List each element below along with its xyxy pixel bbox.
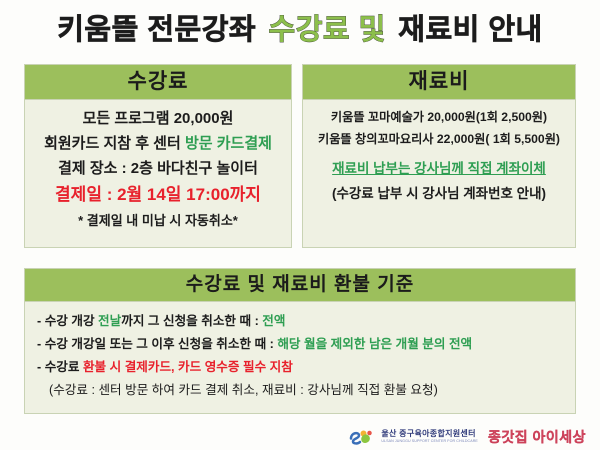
tuition-fee-box: 수강료 모든 프로그램 20,000원 회원카드 지참 후 센터 방문 카드결제… <box>24 64 292 248</box>
footer-logos: 울산 중구육아종합지원센터 ULSAN JUNGGU SUPPORT CENTE… <box>0 424 600 450</box>
center-logo-name: 울산 중구육아종합지원센터 <box>381 430 478 438</box>
refund-rule-1: - 수강 개강 전날까지 그 신청을 취소한 때 : 전액 <box>37 310 565 333</box>
refund-policy-box: 수강료 및 재료비 환불 기준 - 수강 개강 전날까지 그 신청을 취소한 때… <box>24 268 576 414</box>
material-account-note: (수강료 납부 시 강사님 계좌번호 안내) <box>307 182 571 206</box>
title-segment-2: 수강료 및 <box>269 6 386 48</box>
childcare-center-logo-icon <box>349 428 375 446</box>
tuition-line-program-price: 모든 프로그램 20,000원 <box>29 106 287 131</box>
refund-rule-1-green-2: 전액 <box>262 314 285 328</box>
jonggatjip-logo-text: 종갓집 아이세상 <box>488 427 586 447</box>
tuition-line-deadline: 결제일 : 2월 14일 17:00까지 <box>29 181 287 209</box>
tuition-line-location: 결제 장소 : 2층 바다친구 놀이터 <box>29 156 287 181</box>
refund-policy-body: - 수강 개강 전날까지 그 신청을 취소한 때 : 전액 - 수강 개강일 또… <box>25 302 575 402</box>
refund-rule-1-green-1: 전날 <box>98 314 121 328</box>
title-segment-3: 재료비 안내 <box>398 6 542 48</box>
tuition-fee-body: 모든 프로그램 20,000원 회원카드 지참 후 센터 방문 카드결제 결제 … <box>25 100 291 237</box>
material-fee-header: 재료비 <box>303 65 575 100</box>
center-logo-group: 울산 중구육아종합지원센터 ULSAN JUNGGU SUPPORT CENTE… <box>349 428 478 446</box>
material-item-art: 키움뜰 꼬마예술가 20,000원(1회 2,500원) <box>307 106 571 128</box>
refund-rule-3-prefix: - 수강료 <box>37 360 83 374</box>
refund-rule-3: - 수강료 환불 시 결제카드, 카드 영수증 필수 지참 <box>37 356 565 379</box>
refund-rule-2-green-1: 해당 월을 제외한 남은 개월 분의 전액 <box>277 337 472 351</box>
tuition-fee-header: 수강료 <box>25 65 291 100</box>
refund-rule-1-prefix: - 수강 개강 <box>37 314 98 328</box>
refund-rule-3-red-1: 환불 시 결제카드, 카드 영수증 필수 지참 <box>83 360 293 374</box>
material-transfer-note: 재료비 납부는 강사님께 직접 계좌이체 <box>307 156 571 182</box>
center-logo-subtitle: ULSAN JUNGGU SUPPORT CENTER FOR CHILDCAR… <box>381 440 478 444</box>
tuition-line-card-payment: 회원카드 지참 후 센터 방문 카드결제 <box>29 131 287 156</box>
refund-rule-2: - 수강 개강일 또는 그 이후 신청을 취소한 때 : 해당 월을 제외한 남… <box>37 333 565 356</box>
poster-canvas: 키움뜰 전문강좌 수강료 및 재료비 안내 수강료 모든 프로그램 20,000… <box>0 0 600 450</box>
tuition-card-highlight: 방문 카드결제 <box>185 135 272 152</box>
title-segment-1: 키움뜰 전문강좌 <box>57 6 256 48</box>
refund-footnote: (수강료 : 센터 방문 하여 카드 결제 취소, 재료비 : 강사님께 직접 … <box>37 379 565 402</box>
refund-policy-header: 수강료 및 재료비 환불 기준 <box>25 269 575 302</box>
refund-rule-2-prefix: - 수강 개강일 또는 그 이후 신청을 취소한 때 : <box>37 337 277 351</box>
refund-rule-1-middle: 까지 그 신청을 취소한 때 : <box>121 314 262 328</box>
center-logo-text-block: 울산 중구육아종합지원센터 ULSAN JUNGGU SUPPORT CENTE… <box>381 430 478 444</box>
tuition-line-autocancel: * 결제일 내 미납 시 자동취소* <box>29 209 287 233</box>
tuition-card-prefix: 회원카드 지참 후 센터 <box>44 135 185 152</box>
page-title: 키움뜰 전문강좌 수강료 및 재료비 안내 <box>0 6 600 48</box>
material-fee-body: 키움뜰 꼬마예술가 20,000원(1회 2,500원) 키움뜰 창의꼬마요리사… <box>303 100 575 210</box>
material-fee-box: 재료비 키움뜰 꼬마예술가 20,000원(1회 2,500원) 키움뜰 창의꼬… <box>302 64 576 248</box>
material-item-cooking: 키움뜰 창의꼬마요리사 22,000원( 1회 5,500원) <box>307 128 571 150</box>
